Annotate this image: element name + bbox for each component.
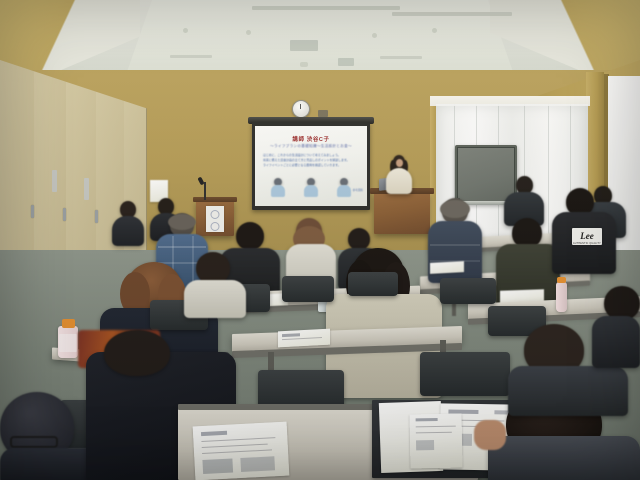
quilt-seam xyxy=(430,244,480,246)
slide-note: 参考資料 xyxy=(353,188,363,192)
slide-figures xyxy=(261,175,361,197)
printed-handout[interactable] xyxy=(193,422,290,480)
door-handle[interactable] xyxy=(63,208,66,221)
printed-handout[interactable] xyxy=(278,329,330,348)
lee-patch-subtext: AUTHENTIC QUALITY xyxy=(572,242,602,245)
door-plate xyxy=(84,178,89,200)
slide-title: 講師 渋谷C子 xyxy=(255,135,367,143)
window-light-strip xyxy=(430,96,590,106)
seminar-room-photo: 講師 渋谷C子 ～ライフプランの基礎知識～生活設計とお金～ はじめに、これからの… xyxy=(0,0,640,480)
wall-clock-icon xyxy=(292,100,310,118)
attendee-torso xyxy=(592,316,640,368)
projection-screen: 講師 渋谷C子 ～ライフプランの基礎知識～生活設計とお金～ はじめに、これからの… xyxy=(255,126,367,206)
attendee-torso xyxy=(508,366,628,416)
plaid-line xyxy=(158,246,206,248)
drink-bottle[interactable] xyxy=(556,282,567,312)
ceiling-vent xyxy=(338,58,354,66)
attendee-hair xyxy=(440,200,470,218)
slide-figure xyxy=(336,178,352,197)
slide-figure xyxy=(270,178,286,197)
door-handle[interactable] xyxy=(31,205,34,218)
slide-body-line-3: ライフイベントごとに必要となる費用を確認していきます。 xyxy=(263,163,359,167)
presenter-face xyxy=(396,159,403,167)
chair[interactable] xyxy=(440,278,496,304)
ceiling-light-strip xyxy=(252,6,400,10)
ceiling-vent xyxy=(290,40,318,51)
plaid-line xyxy=(192,236,194,286)
attendee-torso xyxy=(112,216,144,246)
slide-subtitle: ～ライフプランの基礎知識～生活設計とお金～ xyxy=(255,144,367,149)
presenter-podium xyxy=(374,192,430,234)
attendee-head xyxy=(604,286,640,320)
secondary-mic-stand xyxy=(204,182,206,200)
slide-body-line-1: はじめに、これからの生活設計について考えてみましょう。 xyxy=(263,153,359,157)
chair[interactable] xyxy=(420,352,510,396)
attendee-head xyxy=(236,222,264,250)
ceiling-sprinkler xyxy=(432,28,437,33)
door-handle[interactable] xyxy=(95,210,98,223)
attendee-hand xyxy=(474,420,506,450)
lee-patch-text: Lee xyxy=(580,232,594,241)
attendee-hair xyxy=(168,214,196,230)
binder-page-inner[interactable] xyxy=(410,414,463,469)
printed-handout[interactable] xyxy=(430,261,464,274)
attendee-torso xyxy=(184,280,246,318)
slide-figure xyxy=(303,178,319,197)
ceiling-light-strip xyxy=(392,12,512,16)
attendee-torso xyxy=(488,436,640,480)
whiteboard-surface xyxy=(458,148,514,201)
ceiling-speaker xyxy=(300,62,308,67)
chair[interactable] xyxy=(348,272,398,296)
wall-speaker xyxy=(318,110,328,117)
attendee-torso xyxy=(428,221,482,283)
secondary-podium-top xyxy=(193,197,237,202)
slide-body-line-2: 将来に備えた資金計画の立て方と見直しのポイントを解説します。 xyxy=(263,158,359,162)
door-plate xyxy=(52,170,57,192)
attendee-head xyxy=(104,330,170,376)
ceiling-light-strip xyxy=(170,55,212,58)
ceiling-sprinkler xyxy=(372,33,377,38)
podium-sign xyxy=(206,206,224,232)
eyeglasses-icon xyxy=(10,436,58,448)
ceiling-sprinkler xyxy=(246,30,251,35)
lee-brand-patch: Lee AUTHENTIC QUALITY xyxy=(572,228,602,245)
bottle-cap[interactable] xyxy=(62,319,75,328)
ceiling-light-strip xyxy=(380,56,422,59)
chair[interactable] xyxy=(282,276,334,302)
ceiling-sprinkler xyxy=(183,28,188,33)
presenter-torso xyxy=(386,168,412,194)
attendee-head xyxy=(348,228,370,250)
bottle-label xyxy=(59,334,77,352)
bottle-cap[interactable] xyxy=(557,277,566,283)
